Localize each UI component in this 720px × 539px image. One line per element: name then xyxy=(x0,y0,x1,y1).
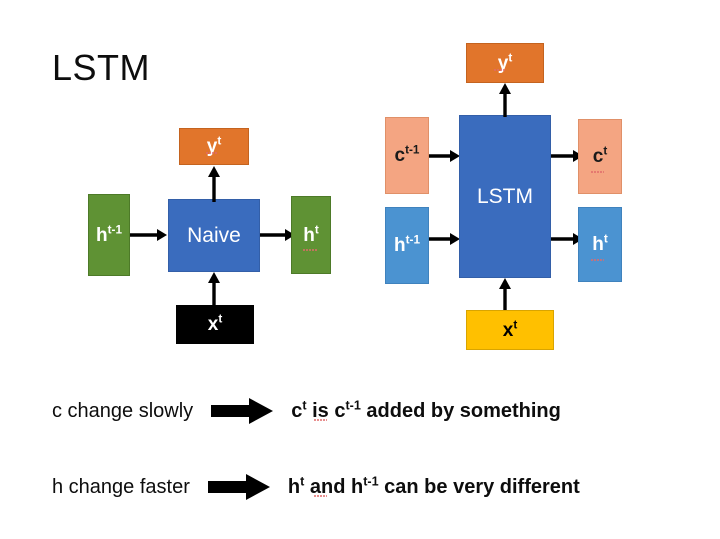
arrow-x-to-lstm xyxy=(498,278,512,311)
naive-input-x-label: xt xyxy=(208,315,223,334)
naive-output-y-base: y xyxy=(207,136,218,157)
lstm-output-cell-box: ct xyxy=(578,119,622,194)
naive-output-y-box: yt xyxy=(179,128,249,165)
block-arrow-right-icon xyxy=(211,398,273,424)
lstm-input-state-base: h xyxy=(394,235,406,256)
naive-input-state-box: ht-1 xyxy=(88,194,130,276)
naive-output-y-label: yt xyxy=(207,137,222,156)
lstm-cell-box: LSTM xyxy=(459,115,551,278)
statement-h-term2-base: h xyxy=(351,476,363,498)
arrow-h-prev-to-naive xyxy=(130,228,168,242)
lstm-output-state-box: ht xyxy=(578,207,622,282)
naive-output-state-base: h xyxy=(303,225,315,246)
statement-h-term1-base: h xyxy=(288,476,300,498)
lstm-output-y-sup: t xyxy=(508,51,512,64)
statement-h-left-text: h change faster xyxy=(52,477,190,497)
arrow-lstm-to-y xyxy=(498,83,512,117)
naive-input-x-base: x xyxy=(208,314,219,335)
arrow-naive-to-y xyxy=(207,166,221,202)
statement-c-left-text: c change slowly xyxy=(52,401,193,421)
statement-h-term2-sup: t-1 xyxy=(363,474,378,488)
lstm-input-x-box: xt xyxy=(466,310,554,350)
naive-input-state-base: h xyxy=(96,225,108,246)
lstm-output-cell-label: ct xyxy=(593,147,608,166)
naive-cell-label: Naive xyxy=(187,225,241,246)
naive-output-state-sup: t xyxy=(315,223,319,236)
lstm-output-state-sup: t xyxy=(604,233,608,246)
statement-c-right-text: ct is ct-1 added by something xyxy=(291,401,561,421)
lstm-input-cell-box: ct-1 xyxy=(385,117,429,194)
lstm-output-state-label: ht xyxy=(592,235,608,254)
lstm-input-state-box: ht-1 xyxy=(385,207,429,284)
lstm-output-y-base: y xyxy=(498,53,509,74)
page-title: LSTM xyxy=(52,50,150,86)
lstm-output-y-box: yt xyxy=(466,43,544,83)
statement-c-term2-base: c xyxy=(334,400,345,422)
statement-h-joiner1: and xyxy=(304,476,351,498)
lstm-cell-label: LSTM xyxy=(477,186,533,207)
naive-output-y-sup: t xyxy=(217,135,221,148)
statement-c-change-slowly: c change slowly ct is ct-1 added by some… xyxy=(52,398,561,424)
lstm-input-cell-label: ct-1 xyxy=(395,146,420,165)
naive-cell-box: Naive xyxy=(168,199,260,272)
naive-output-state-label: ht xyxy=(303,226,319,245)
lstm-output-cell-sup: t xyxy=(603,145,607,158)
lstm-input-x-sup: t xyxy=(513,318,517,331)
lstm-input-cell-base: c xyxy=(395,145,406,166)
naive-input-x-box: xt xyxy=(176,305,254,344)
statement-c-joiner1: is xyxy=(307,400,335,422)
lstm-output-state-base: h xyxy=(592,234,604,255)
lstm-input-state-sup: t-1 xyxy=(406,234,420,247)
lstm-input-x-base: x xyxy=(503,320,514,341)
naive-input-state-sup: t-1 xyxy=(108,223,122,236)
naive-input-state-label: ht-1 xyxy=(96,226,122,245)
lstm-input-cell-sup: t-1 xyxy=(405,144,419,157)
block-arrow-right-icon-2 xyxy=(208,474,270,500)
arrow-c-prev-to-lstm xyxy=(429,149,461,163)
lstm-input-state-label: ht-1 xyxy=(394,236,420,255)
lstm-input-x-label: xt xyxy=(503,321,518,340)
slide-canvas: LSTM ht-1 Naive ht xyxy=(0,0,720,539)
naive-output-state-box: ht xyxy=(291,196,331,274)
statement-h-right-text: ht and ht-1 can be very different xyxy=(288,477,580,497)
statement-h-change-faster: h change faster ht and ht-1 can be very … xyxy=(52,474,580,500)
statement-c-term1-base: c xyxy=(291,400,302,422)
statement-c-term2-sup: t-1 xyxy=(345,398,360,412)
statement-c-tail: added by something xyxy=(361,400,561,422)
naive-input-x-sup: t xyxy=(218,313,222,326)
arrow-x-to-naive xyxy=(207,272,221,306)
lstm-output-cell-base: c xyxy=(593,146,604,167)
lstm-output-y-label: yt xyxy=(498,54,513,73)
arrow-h-prev-to-lstm xyxy=(429,232,461,246)
statement-h-tail: can be very different xyxy=(379,476,580,498)
